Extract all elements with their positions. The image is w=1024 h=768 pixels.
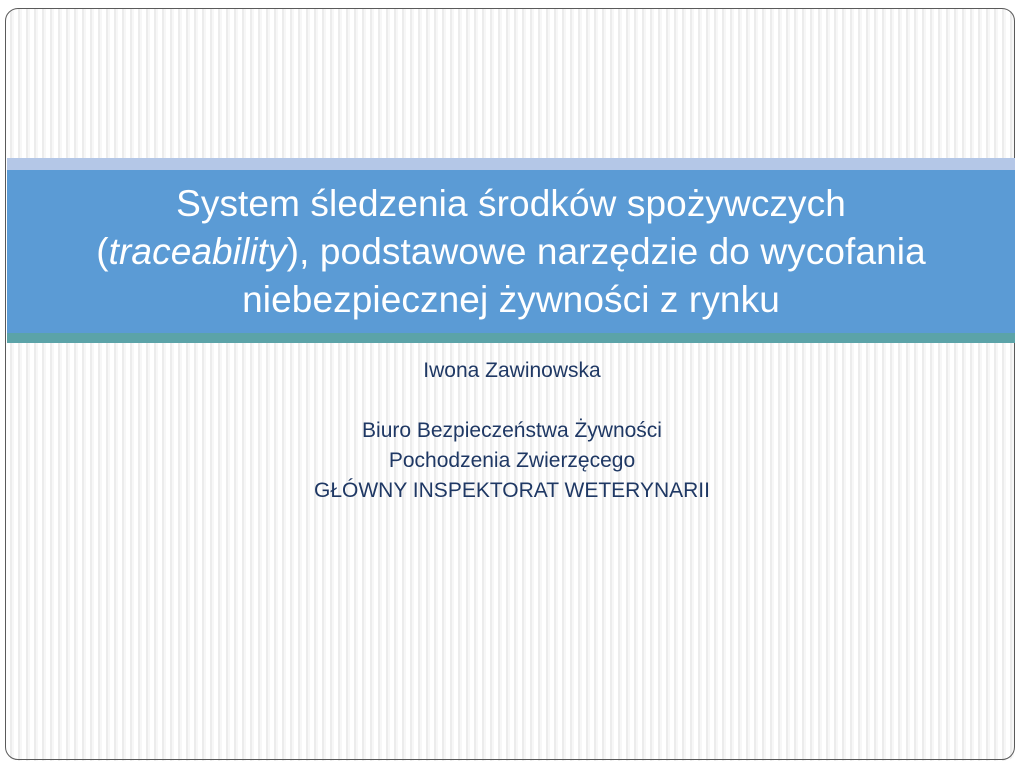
title-line-3: niebezpiecznej żywności z rynku [242,276,780,324]
title-banner: System śledzenia środków spożywczych (tr… [7,158,1015,343]
title-line-2-before: ( [96,231,108,272]
subtitle-spacer [0,386,1024,416]
presentation-slide: System śledzenia środków spożywczych (tr… [0,0,1024,768]
title-line-1: System śledzenia środków spożywczych [176,180,846,228]
slide-title: System śledzenia środków spożywczych (tr… [7,170,1015,333]
subtitle-org-line-2: Pochodzenia Zwierzęcego [0,446,1024,476]
title-line-2: (traceability), podstawowe narzędzie do … [96,228,926,276]
slide-subtitle: Iwona Zawinowska Biuro Bezpieczeństwa Ży… [0,356,1024,506]
subtitle-org-line-3: GŁÓWNY INSPEKTORAT WETERYNARII [0,476,1024,506]
banner-bottom-accent-strip [7,333,1015,343]
banner-top-accent-strip [7,158,1015,170]
subtitle-org-line-1: Biuro Bezpieczeństwa Żywności [0,416,1024,446]
title-line-2-italic-term: traceability [109,231,287,272]
title-line-2-after: ), podstawowe narzędzie do wycofania [287,231,926,272]
subtitle-author-name: Iwona Zawinowska [0,356,1024,386]
